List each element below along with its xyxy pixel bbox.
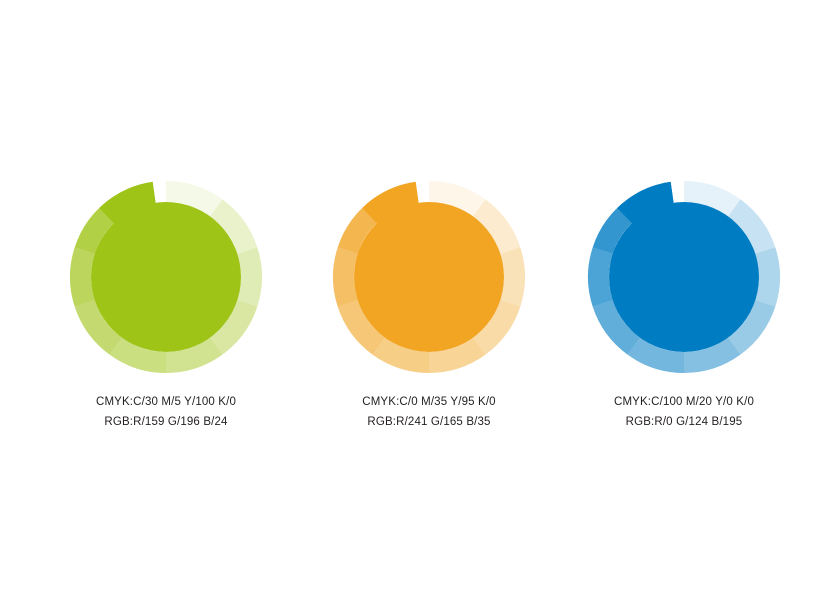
swatch-caption-blue: CMYK:C/100 M/20 Y/0 K/0RGB:R/0 G/124 B/1…	[574, 392, 794, 432]
color-wheel-blue	[584, 177, 784, 377]
ring-segment-3	[755, 247, 780, 306]
blue-swatch: CMYK:C/100 M/20 Y/0 K/0RGB:R/0 G/124 B/1…	[0, 0, 838, 597]
rgb-value: RGB:R/0 G/124 B/195	[574, 412, 794, 432]
cmyk-value: CMYK:C/100 M/20 Y/0 K/0	[574, 392, 794, 412]
palette-canvas: CMYK:C/30 M/5 Y/100 K/0RGB:R/159 G/196 B…	[0, 0, 838, 597]
ring-segment-8	[588, 247, 613, 306]
